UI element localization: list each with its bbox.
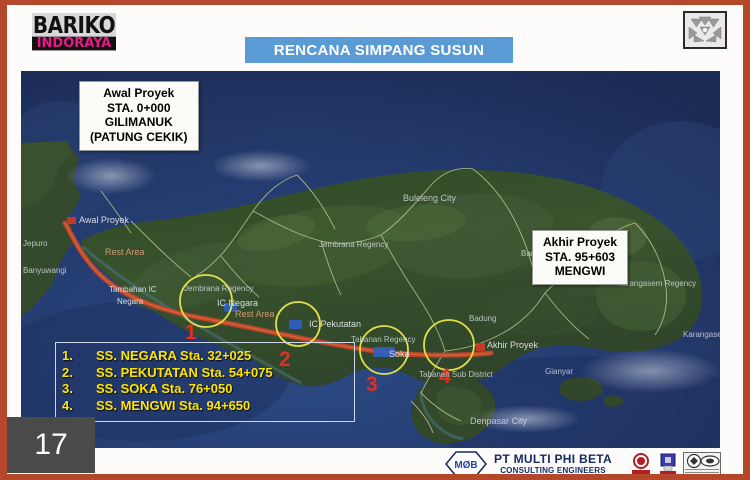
label-awal-proyek: Awal Proyek [79,215,129,225]
legend-item-label: SS. NEGARA Sta. 32+025 [96,348,251,365]
firm-name: PT MULTI PHI BETA [494,453,612,467]
svg-text:Gianyar: Gianyar [545,367,573,376]
company-emblem-icon [683,11,727,49]
firm-subtitle: CONSULTING ENGINEERS [494,466,612,475]
emblem-glyph-icon [688,15,722,45]
legend-item-number: 1. [62,348,96,365]
callout-end-line2: STA. 95+603 [543,250,617,265]
bariko-indoraya-logo: BARIKO INDORAYA [32,13,116,51]
interchange-legend: 1. SS. NEGARA Sta. 32+025 2. SS. PEKUTAT… [55,342,355,422]
slide-inner: BARIKO INDORAYA RENCANA SIMPANG SUSUN [7,5,743,474]
accreditation-badge-icon [683,452,721,476]
legend-item-label: SS. MENGWI Sta. 94+650 [96,398,250,415]
label-rest-area-2: Rest Area [105,247,145,257]
callout-start-line4: (PATUNG CEKIK) [90,130,188,145]
seal-badge-icon [629,452,653,476]
legend-item: 2. SS. PEKUTATAN Sta. 54+075 [62,365,348,382]
label-negara: Negara [117,297,144,306]
legend-item-label: SS. PEKUTATAN Sta. 54+075 [96,365,273,382]
marker-number-1: 1 [185,321,197,344]
label-rest-area: Rest Area [235,309,275,319]
callout-project-end: Akhir Proyek STA. 95+603 MENGWI [532,230,628,285]
legend-item-number: 2. [62,365,96,382]
presentation-slide: BARIKO INDORAYA RENCANA SIMPANG SUSUN [0,0,750,480]
firm-identity: PT MULTI PHI BETA CONSULTING ENGINEERS [494,453,612,476]
logo-secondary-text: INDORAYA [32,36,116,50]
callout-end-line3: MENGWI [543,264,617,279]
label-soka: Soka [389,349,410,359]
legend-item-number: 4. [62,398,96,415]
certificate-badge-icon [658,452,678,476]
svg-text:Banyuwangi: Banyuwangi [23,266,67,275]
slide-title: RENCANA SIMPANG SUSUN [274,42,484,59]
slide-footer: MØB PT MULTI PHI BETA CONSULTING ENGINEE… [7,449,743,479]
label-akhir-proyek: Akhir Proyek [487,340,539,350]
mob-logo-text: MØB [454,460,477,471]
svg-text:Karangasem: Karangasem [683,330,720,339]
svg-text:Jepuro: Jepuro [23,239,48,248]
label-ic-pekutatan: IC Pekutatan [309,319,361,329]
callout-start-line2: STA. 0+000 [90,101,188,116]
svg-text:Jembrana Regency: Jembrana Regency [319,240,388,249]
svg-text:Tabanan Sub District: Tabanan Sub District [419,370,494,379]
mob-hexagon-logo-icon: MØB [445,451,487,477]
label-ic-negara: IC Negara [217,298,258,308]
svg-text:Buleleng City: Buleleng City [403,193,457,203]
legend-item-label: SS. SOKA Sta. 76+050 [96,381,232,398]
label-tambahan-ic: Tambahan IC [109,285,157,294]
callout-project-start: Awal Proyek STA. 0+000 GILIMANUK (PATUNG… [79,81,199,151]
svg-text:Tabanan Regency: Tabanan Regency [351,335,416,344]
svg-text:Jembrana Regency: Jembrana Regency [184,284,253,293]
legend-item-number: 3. [62,381,96,398]
marker-number-3: 3 [366,373,378,396]
legend-item: 3. SS. SOKA Sta. 76+050 [62,381,348,398]
svg-text:Badung: Badung [469,314,497,323]
callout-start-line1: Awal Proyek [90,86,188,101]
legend-item: 4. SS. MENGWI Sta. 94+650 [62,398,348,415]
callout-start-line3: GILIMANUK [90,115,188,130]
callout-end-line1: Akhir Proyek [543,235,617,250]
logo-primary-text: BARIKO [32,13,116,36]
legend-item: 1. SS. NEGARA Sta. 32+025 [62,348,348,365]
svg-text:Karangasem Regency: Karangasem Regency [617,279,696,288]
slide-title-banner: RENCANA SIMPANG SUSUN [245,37,513,63]
